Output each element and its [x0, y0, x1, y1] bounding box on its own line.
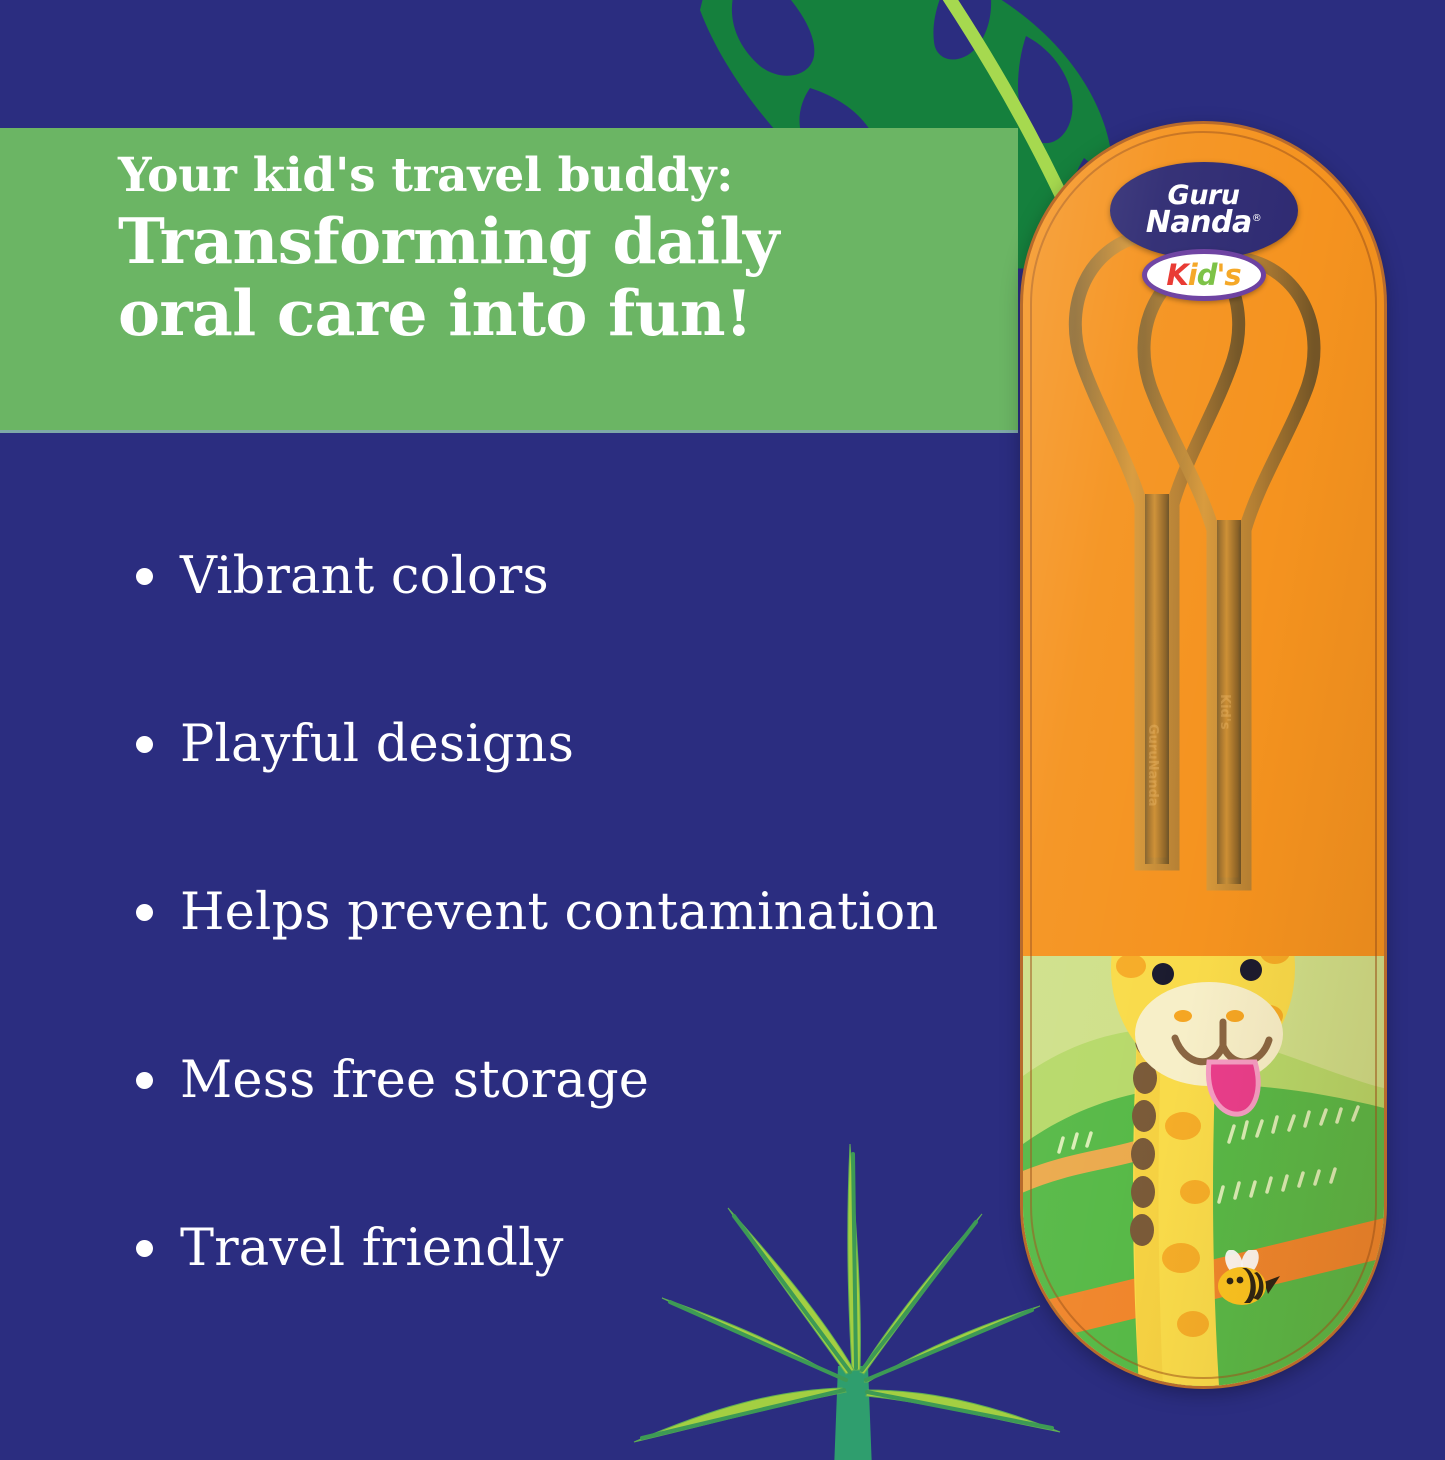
list-item: Playful designs	[0, 660, 1010, 828]
package-scene	[1023, 956, 1384, 1386]
registered-mark: ®	[1252, 213, 1262, 224]
brand-logo: Guru Nanda® Kid's	[1100, 162, 1308, 301]
giraffe-character-icon	[1023, 956, 1384, 1386]
svg-text:GuruNanda: GuruNanda	[1145, 724, 1160, 807]
headline-banner: Your kid's travel buddy: Transforming da…	[0, 128, 1018, 433]
kids-letter-apostrophe: '	[1217, 261, 1225, 290]
svg-text:Kid's: Kid's	[1217, 694, 1232, 730]
bullet-dot-icon	[136, 904, 153, 921]
sub-brand-kids: Kid's	[1166, 261, 1240, 290]
list-item: Mess free storage	[0, 996, 1010, 1164]
feature-label: Travel friendly	[180, 1223, 564, 1274]
product-package[interactable]: GuruNanda Kid's	[1023, 124, 1384, 1386]
bee-character-icon	[1208, 1250, 1282, 1308]
feature-label: Vibrant colors	[180, 551, 549, 602]
bullet-dot-icon	[136, 1072, 153, 1089]
list-item: Travel friendly	[0, 1164, 1010, 1332]
kids-letter-d: d	[1197, 261, 1217, 290]
kids-letter-k: K	[1166, 261, 1187, 290]
headline-subtitle: Your kid's travel buddy:	[118, 150, 978, 203]
list-item: Helps prevent contamination	[0, 828, 1010, 996]
feature-list: Vibrant colors Playful designs Helps pre…	[0, 492, 1010, 1332]
brand-oval: Guru Nanda®	[1110, 162, 1298, 259]
feature-label: Mess free storage	[180, 1055, 649, 1106]
kids-letter-s: s	[1224, 261, 1240, 290]
bullet-dot-icon	[136, 736, 153, 753]
feature-label: Helps prevent contamination	[180, 887, 938, 938]
sub-brand-badge: Kid's	[1142, 249, 1266, 301]
brand-name-nanda: Nanda	[1146, 205, 1252, 240]
headline-title-line1: Transforming daily	[118, 207, 978, 275]
bullet-dot-icon	[136, 1240, 153, 1257]
kids-letter-i: i	[1188, 261, 1197, 290]
brand-name-line2: Nanda®	[1146, 209, 1261, 238]
feature-label: Playful designs	[180, 719, 574, 770]
bullet-dot-icon	[136, 568, 153, 585]
headline-title-line2: oral care into fun!	[118, 279, 978, 347]
list-item: Vibrant colors	[0, 492, 1010, 660]
